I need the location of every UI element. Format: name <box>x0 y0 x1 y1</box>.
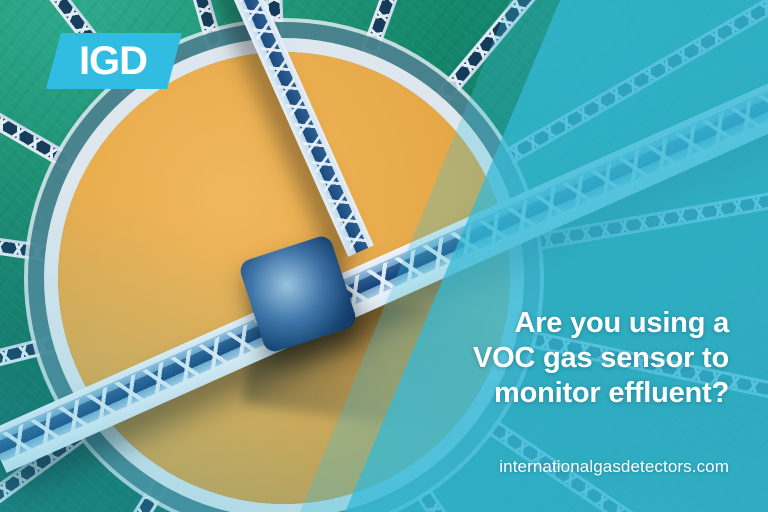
headline: Are you using a VOC gas sensor to monito… <box>299 306 729 411</box>
igd-logo[interactable]: IGD <box>46 33 182 89</box>
logo-wordmark: IGD <box>46 33 182 89</box>
headline-line-3: monitor effluent? <box>299 376 729 411</box>
headline-line-1: Are you using a <box>299 306 729 341</box>
website-url[interactable]: internationalgasdetectors.com <box>499 457 729 477</box>
headline-line-2: VOC gas sensor to <box>299 341 729 376</box>
promo-banner: IGD Are you using a VOC gas sensor to mo… <box>0 0 768 512</box>
